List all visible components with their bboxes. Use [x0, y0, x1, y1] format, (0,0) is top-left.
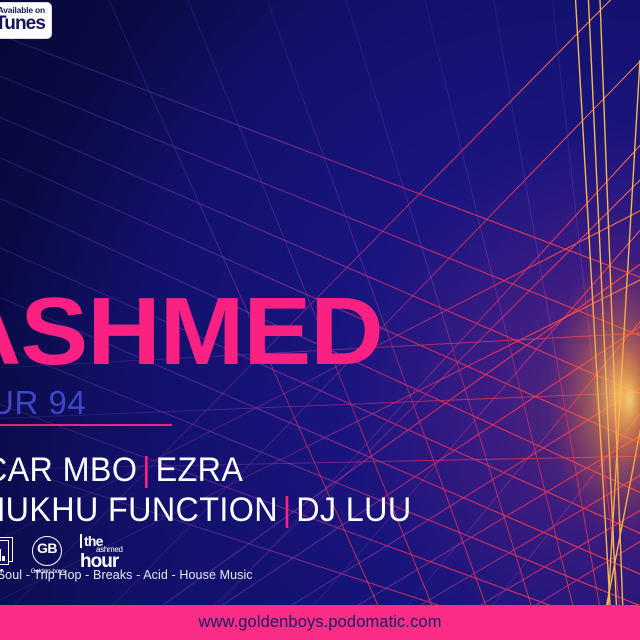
artist-name: SCAR MBO [0, 451, 137, 489]
artist-separator: | [137, 451, 155, 489]
artist-name: EZRA [156, 451, 244, 489]
badge-bar [2, 556, 5, 561]
poster-canvas: Available on iTunes ASHMED OUR 94 at. SC… [0, 0, 640, 640]
badge-bar [0, 549, 1, 561]
page-title: ASHMED [0, 284, 383, 380]
footer-bar: www.goldenboys.podomatic.com [0, 605, 640, 640]
golden-boys-monogram: GB [32, 540, 62, 556]
lineup-row: SCAR MBO|EZRA [0, 452, 243, 488]
artist-separator: | [278, 491, 296, 529]
badge-square-front [0, 540, 9, 565]
genre-list: ge - NeoSoul - Trip Hop - Breaks - Acid … [0, 568, 253, 582]
page-subtitle: OUR 94 [0, 386, 86, 420]
poster-content: ASHMED OUR 94 at. SCAR MBO|EZRA KHUKHU F… [0, 0, 640, 640]
artist-name: KHUKHU FUNCTION [0, 491, 278, 529]
footer-website-url[interactable]: www.goldenboys.podomatic.com [0, 605, 640, 640]
divider [0, 424, 172, 426]
lineup-row: KHUKHU FUNCTION|DJ LUU [0, 492, 412, 528]
artist-name: DJ LUU [296, 491, 411, 529]
